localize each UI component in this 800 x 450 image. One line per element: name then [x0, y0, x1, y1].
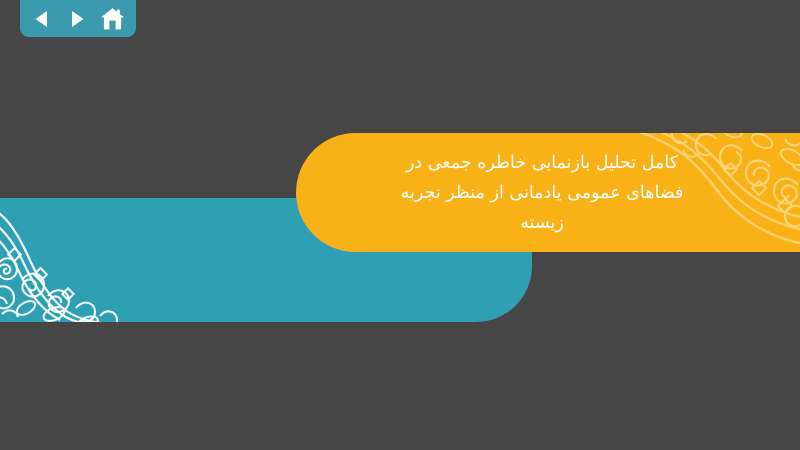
title-line-3: زیسته	[520, 208, 564, 238]
previous-slide-button[interactable]	[27, 4, 57, 34]
slide-canvas: کامل تحلیل بازنمایی خاطره جمعی در فضاهای…	[0, 0, 800, 450]
triangle-right-icon	[66, 8, 88, 30]
home-button[interactable]	[97, 4, 127, 34]
triangle-left-icon	[31, 8, 53, 30]
slide-title: کامل تحلیل بازنمایی خاطره جمعی در فضاهای…	[296, 133, 800, 252]
slide-title-panel: کامل تحلیل بازنمایی خاطره جمعی در فضاهای…	[296, 133, 800, 252]
navigation-bar	[20, 0, 136, 37]
arabesque-ornament-teal	[0, 204, 164, 322]
house-icon	[100, 7, 125, 31]
title-line-2: فضاهای عمومی یادمانی از منظر تجربه	[401, 178, 684, 208]
next-slide-button[interactable]	[62, 4, 92, 34]
title-line-1: کامل تحلیل بازنمایی خاطره جمعی در	[406, 148, 678, 178]
